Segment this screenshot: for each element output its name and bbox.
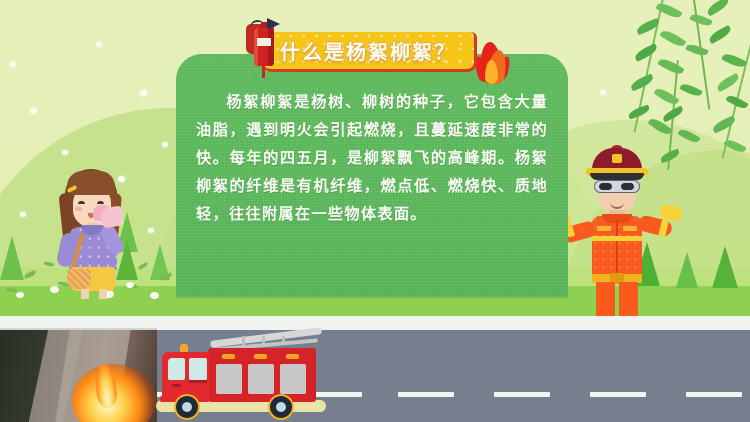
truck-ladder-rail [242,336,245,345]
slide-canvas: 杨絮柳絮是杨树、柳树的种子，它包含大量油脂，遇到明火会引起燃烧，且蔓延速度非常的… [0,0,750,422]
truck-marker-light [222,354,235,359]
extinguisher-stand [262,64,265,78]
truck-door-window [189,358,207,380]
extinguisher-body [254,28,274,66]
content-panel: 杨絮柳絮是杨树、柳树的种子，它包含大量油脂，遇到明火会引起燃烧，且蔓延速度非常的… [176,54,568,297]
girl-character [45,163,141,298]
truck-locker-panel [248,364,274,394]
firefighter-goggle-lens-right [621,183,634,190]
truck-hubcap [276,402,286,412]
catkin-fluff [162,142,168,147]
fire-truck-illustration [150,316,335,422]
catkin-fluff [600,90,606,95]
lane-dash [686,392,742,397]
truck-locker-panel [280,364,306,394]
lane-dash [398,392,454,397]
body-paragraph: 杨絮柳絮是杨树、柳树的种子，它包含大量油脂，遇到明火会引起燃烧，且蔓延速度非常的… [196,88,548,228]
page-title: 什么是杨絮柳絮？ [280,36,456,65]
catkin-fluff [30,108,37,114]
extinguisher-label [257,38,271,46]
burning-catkins-photo [0,328,157,422]
firefighter-pocket-right [623,226,637,231]
truck-marker-light [254,354,267,359]
firefighter-zipper [616,220,618,276]
truck-door-line [189,380,207,383]
catkin-fluff [20,212,26,217]
flame-icon [476,42,510,88]
truck-locker-panel [216,364,242,394]
truck-handle [172,384,181,387]
catkin-fluff [10,62,16,67]
girl-blush-left [75,207,82,211]
catkin-fluff [62,150,68,155]
truck-hubcap [182,402,192,412]
firefighter-goggle-lens-left [599,183,612,190]
girl-bag [67,269,91,289]
truck-windshield [168,358,185,380]
firefighter-reflective-stripe [592,236,642,241]
catkin-fluff [96,42,102,47]
firefighter-helmet-edge [590,173,644,180]
catkin-fluff [148,228,154,233]
truck-bumper [160,396,170,402]
girl-bangs [67,171,115,195]
firefighter-pocket-left [597,226,611,231]
lane-dash [590,392,646,397]
title-banner: 什么是杨絮柳絮？ [262,32,477,72]
truck-marker-light [286,354,299,359]
fire-extinguisher-icon [248,14,278,70]
firefighter-helmet-badge [612,154,622,163]
girl-eye-left [78,201,85,204]
girl-eye-right [97,201,104,204]
girl-leg-right [99,289,107,299]
lane-dash [494,392,550,397]
girl-leg-left [81,289,89,299]
catkin-fluff [140,90,147,96]
